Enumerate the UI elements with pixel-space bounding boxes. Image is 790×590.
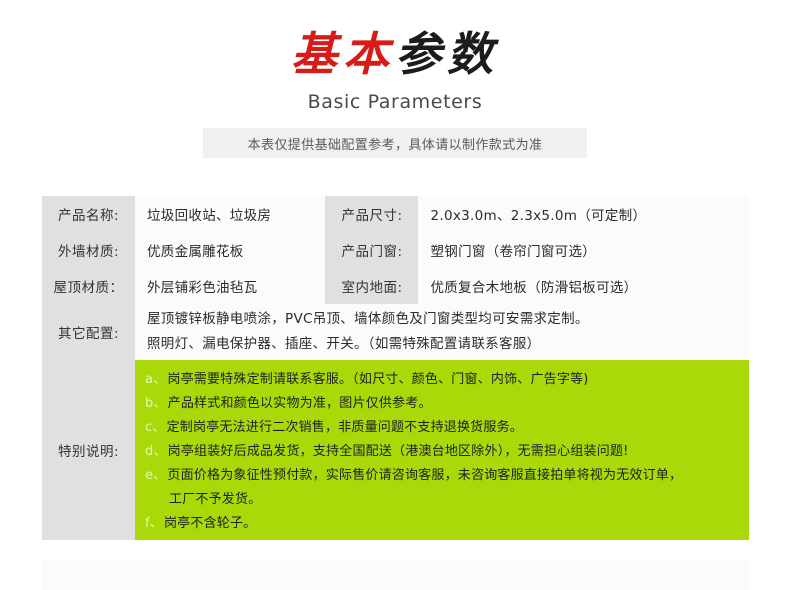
list-item-marker: e、	[145, 468, 166, 483]
row-label-indoor-floor: 室内地面:	[325, 268, 418, 304]
row-label-doors-windows: 产品门窗:	[325, 232, 418, 268]
row-value-indoor-floor: 优质复合木地板（防滑铝板可选）	[418, 268, 749, 304]
table-bottom-strip	[42, 560, 749, 590]
list-item-marker: f、	[145, 516, 163, 531]
list-item-marker: c、	[145, 420, 166, 435]
table-row: 屋顶材质： 外层铺彩色油毡瓦 室内地面: 优质复合木地板（防滑铝板可选）	[42, 268, 749, 304]
list-item-text: 工厂不予发货。	[169, 492, 261, 507]
page-title-cn-black: 参数	[395, 27, 499, 81]
page-title: 基本参数	[0, 26, 790, 84]
list-item: f、岗亭不含轮子。	[145, 512, 749, 536]
row-value-roof-material: 外层铺彩色油毡瓦	[135, 268, 325, 304]
row-label-wall-material: 外墙材质:	[42, 232, 135, 268]
parameters-table: 产品名称: 垃圾回收站、垃圾房 产品尺寸: 2.0x3.0m、2.3x5.0m（…	[42, 196, 749, 540]
list-item: d、岗亭组装好后成品发货，支持全国配送（港澳台地区除外），无需担心组装问题!	[145, 440, 749, 464]
notice-bar-text: 本表仅提供基础配置参考，具体请以制作款式为准	[248, 134, 543, 153]
row-label-product-size: 产品尺寸:	[325, 196, 418, 232]
row-value-other-config: 屋顶镀锌板静电喷涂，PVC吊顶、墙体颜色及门窗类型均可安需求定制。 照明灯、漏电…	[135, 304, 749, 360]
list-item-text: 定制岗亭无法进行二次销售，非质量问题不支持退换货服务。	[167, 420, 523, 435]
table-row: 产品名称: 垃圾回收站、垃圾房 产品尺寸: 2.0x3.0m、2.3x5.0m（…	[42, 196, 749, 232]
list-item: c、定制岗亭无法进行二次销售，非质量问题不支持退换货服务。	[145, 416, 749, 440]
special-notes-panel: a、岗亭需要特殊定制请联系客服。（如尺寸、颜色、门窗、内饰、广告字等) b、产品…	[135, 360, 749, 540]
row-value-product-size: 2.0x3.0m、2.3x5.0m（可定制）	[418, 196, 749, 232]
row-label-roof-material: 屋顶材质：	[42, 268, 135, 304]
list-item-marker: b、	[145, 396, 167, 411]
page-subtitle-english: Basic Parameters	[0, 90, 790, 114]
table-row: 外墙材质: 优质金属雕花板 产品门窗: 塑钢门窗（卷帘门窗可选）	[42, 232, 749, 268]
list-item: e、页面价格为象征性预付款，实际售价请咨询客服，未咨询客服直接拍单将视为无效订单…	[145, 464, 749, 488]
table-row: 特别说明: a、岗亭需要特殊定制请联系客服。（如尺寸、颜色、门窗、内饰、广告字等…	[42, 360, 749, 540]
row-label-special-notes: 特别说明:	[42, 360, 135, 540]
page-title-cn-red: 基本	[291, 27, 395, 81]
other-config-line-1: 屋顶镀锌板静电喷涂，PVC吊顶、墙体颜色及门窗类型均可安需求定制。	[147, 307, 589, 332]
list-item: a、岗亭需要特殊定制请联系客服。（如尺寸、颜色、门窗、内饰、广告字等)	[145, 368, 749, 392]
table-row: 其它配置: 屋顶镀锌板静电喷涂，PVC吊顶、墙体颜色及门窗类型均可安需求定制。 …	[42, 304, 749, 360]
row-value-wall-material: 优质金属雕花板	[135, 232, 325, 268]
row-label-product-name: 产品名称:	[42, 196, 135, 232]
row-value-doors-windows: 塑钢门窗（卷帘门窗可选）	[418, 232, 749, 268]
row-value-product-name: 垃圾回收站、垃圾房	[135, 196, 325, 232]
list-item-text: 岗亭组装好后成品发货，支持全国配送（港澳台地区除外），无需担心组装问题!	[168, 444, 629, 459]
list-item-text: 岗亭不含轮子。	[164, 516, 256, 531]
list-item-text: 产品样式和颜色以实物为准，图片仅供参考。	[168, 396, 432, 411]
list-item-marker: a、	[145, 372, 166, 387]
other-config-line-2: 照明灯、漏电保护器、插座、开关。（如需特殊配置请联系客服）	[147, 332, 540, 357]
row-label-other-config: 其它配置:	[42, 304, 135, 360]
list-item-continuation: 工厂不予发货。	[145, 488, 749, 512]
page-header: 基本参数 Basic Parameters 本表仅提供基础配置参考，具体请以制作…	[0, 0, 790, 158]
list-item-text: 岗亭需要特殊定制请联系客服。（如尺寸、颜色、门窗、内饰、广告字等)	[167, 372, 588, 387]
list-item: b、产品样式和颜色以实物为准，图片仅供参考。	[145, 392, 749, 416]
notice-bar: 本表仅提供基础配置参考，具体请以制作款式为准	[203, 128, 587, 158]
list-item-text: 页面价格为象征性预付款，实际售价请咨询客服，未咨询客服直接拍单将视为无效订单，	[167, 468, 682, 483]
list-item-marker: d、	[145, 444, 167, 459]
